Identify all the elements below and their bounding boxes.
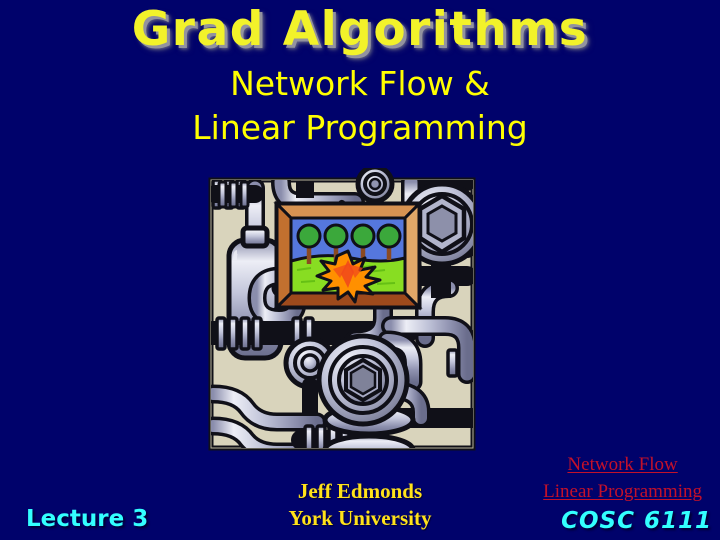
course-code-label: COSC 6111 xyxy=(561,508,712,534)
page-title: Grad Algorithms xyxy=(0,6,720,53)
framed-picture xyxy=(277,201,419,307)
pipes-and-framed-picture-clipart xyxy=(205,168,479,453)
link-network-flow[interactable]: Network Flow xyxy=(543,452,702,479)
slide-subtitle: Network Flow & Linear Programming xyxy=(0,62,720,149)
presentation-slide: Grad Algorithms Network Flow & Linear Pr… xyxy=(0,0,720,540)
lecture-number-label: Lecture 3 xyxy=(26,506,148,532)
top-bolt-shape xyxy=(358,168,392,201)
link-linear-programming[interactable]: Linear Programming xyxy=(543,479,702,506)
topic-links[interactable]: Network Flow Linear Programming xyxy=(543,452,702,506)
subtitle-line-1: Network Flow & xyxy=(0,62,720,106)
subtitle-line-2: Linear Programming xyxy=(0,106,720,150)
